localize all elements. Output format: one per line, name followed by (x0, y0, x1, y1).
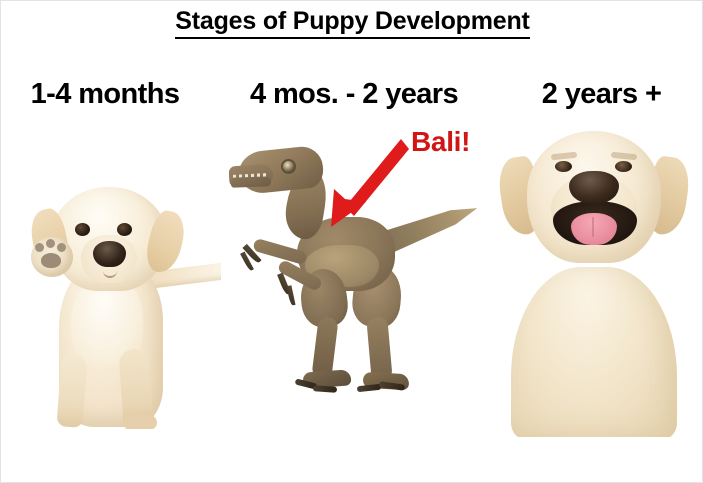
stage-header-2: 4 mos. - 2 years (209, 80, 499, 109)
slide-canvas: Stages of Puppy Development 1-4 months 4… (0, 0, 703, 483)
stage-image-3 (493, 119, 693, 437)
puppy-left-eye (75, 223, 90, 236)
annotation-label: Bali! (411, 128, 470, 156)
dog-nose (569, 171, 619, 203)
page-title: Stages of Puppy Development (1, 7, 703, 36)
dinosaur-toe-2 (313, 385, 337, 393)
puppy-toe-pad-2 (46, 239, 55, 248)
dog-tongue-crease (592, 217, 594, 237)
puppy-front-leg (57, 354, 88, 428)
puppy-toe-pad-3 (57, 243, 66, 252)
puppy-paw-pad (41, 253, 61, 268)
stage-header-3: 2 years + (499, 80, 703, 109)
stage-image-2 (229, 141, 481, 433)
puppy-nose (93, 241, 126, 267)
dinosaur-claw-4 (286, 285, 295, 306)
puppy-right-eye (117, 223, 132, 236)
stage-header-1: 1-4 months (1, 80, 209, 109)
stage-headers-row: 1-4 months 4 mos. - 2 years 2 years + (1, 73, 703, 115)
dog-right-eye (615, 161, 632, 172)
stage-image-1 (13, 179, 221, 429)
dog-chest (511, 267, 677, 437)
puppy-hind-foot (123, 415, 157, 429)
page-title-text: Stages of Puppy Development (175, 7, 529, 39)
dinosaur-eye (281, 159, 296, 174)
dog-tongue (571, 213, 617, 245)
dinosaur-jaw (231, 176, 271, 187)
dog-left-eye (555, 161, 572, 172)
puppy-toe-pad-1 (35, 243, 44, 252)
dinosaur-toe-3 (357, 384, 381, 392)
